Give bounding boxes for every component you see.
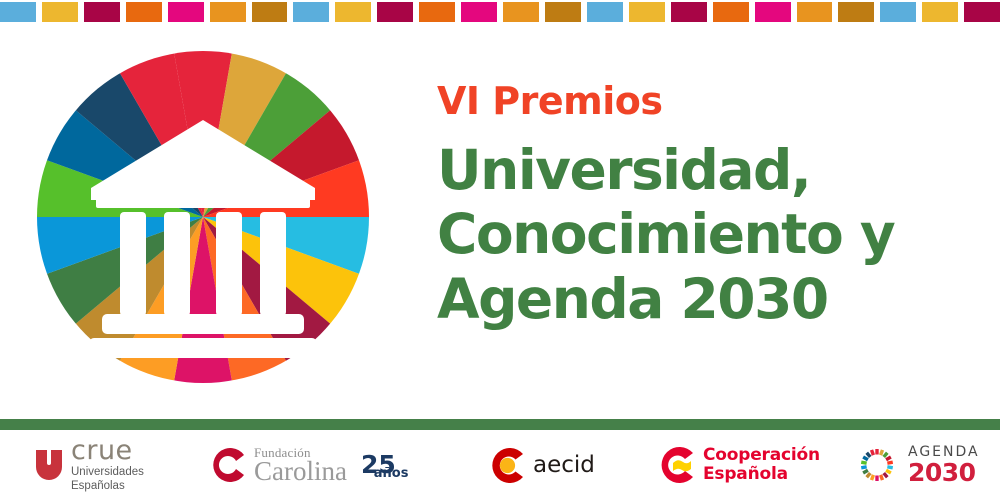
poster-root: VI Premios Universidad, Conocimiento y A… xyxy=(0,0,1000,500)
sdg-ring-segment xyxy=(861,462,866,463)
crue-u-shield-icon xyxy=(36,450,62,480)
color-tile xyxy=(755,2,797,22)
color-tile xyxy=(210,2,252,22)
anniversary-word: años xyxy=(374,466,409,481)
aecid-c-sun-icon xyxy=(490,448,525,483)
crue-subline-2: Españolas xyxy=(71,480,144,494)
hero-section: VI Premios Universidad, Conocimiento y A… xyxy=(0,26,1000,419)
color-tile xyxy=(126,2,168,22)
color-tile xyxy=(335,2,377,22)
agenda-year: 2030 xyxy=(908,460,980,485)
color-tile xyxy=(797,2,839,22)
color-tile xyxy=(545,2,587,22)
sdg-ring-segment xyxy=(872,475,874,480)
sdg-ring-segment xyxy=(863,470,868,473)
logo-cooperacion-espanola[interactable]: Cooperación Española xyxy=(659,430,820,500)
sdg-ring-segment xyxy=(881,450,883,455)
kicker-text: VI Premios xyxy=(437,82,977,120)
green-divider-bar xyxy=(0,419,1000,430)
color-tile xyxy=(168,2,210,22)
coop-line-1: Cooperación xyxy=(703,446,820,465)
title-line-1: Universidad, xyxy=(437,138,977,202)
logo-aecid[interactable]: aecid xyxy=(490,430,595,500)
color-tile xyxy=(84,2,126,22)
color-tile xyxy=(964,2,1000,22)
carolina-c-icon xyxy=(212,448,246,482)
coop-line-2: Española xyxy=(703,465,820,484)
carolina-main-word: Carolina xyxy=(254,458,347,485)
sponsor-logo-band: crue Universidades Españolas Fundación C… xyxy=(0,430,1000,500)
sdg-ring-segment xyxy=(884,453,888,457)
crue-subline-1: Universidades xyxy=(71,466,144,480)
sdg-wheel-university-emblem xyxy=(34,48,372,386)
sdg-ring-segment xyxy=(867,473,871,477)
sdg-ring-segment xyxy=(887,467,892,468)
color-tile xyxy=(419,2,461,22)
aecid-wordmark: aecid xyxy=(533,452,595,478)
color-tile xyxy=(587,2,629,22)
sdg-ring-segment xyxy=(863,457,868,460)
sdg-ring-segment xyxy=(887,462,892,463)
color-tile xyxy=(377,2,419,22)
sdg-ring-segment xyxy=(886,457,891,460)
color-tile xyxy=(461,2,503,22)
logo-fundacion-carolina[interactable]: Fundación Carolina 25 años xyxy=(212,430,408,500)
color-tile xyxy=(252,2,294,22)
color-tile xyxy=(713,2,755,22)
color-tile xyxy=(629,2,671,22)
color-tile xyxy=(42,2,84,22)
agenda-wordmark: AGENDA xyxy=(908,445,980,459)
color-tile xyxy=(880,2,922,22)
decorative-color-tile-strip xyxy=(0,0,1000,26)
color-tile xyxy=(503,2,545,22)
sdg-ring-segment xyxy=(867,453,871,457)
carolina-25-anniversary-mark: 25 años xyxy=(361,449,409,481)
sdg-ring-segment xyxy=(872,450,874,455)
sdg-ring-segment xyxy=(861,467,866,468)
sdg-ring-segment xyxy=(886,470,891,473)
cooperacion-c-wave-icon xyxy=(659,447,695,483)
title-line-2: Conocimiento y xyxy=(437,202,977,266)
sdg-ring-segment xyxy=(881,475,883,480)
sdg-ring-icon xyxy=(855,443,899,487)
color-tile xyxy=(0,2,42,22)
color-tile xyxy=(293,2,335,22)
crue-wordmark: crue xyxy=(71,437,144,464)
color-tile xyxy=(671,2,713,22)
logo-agenda-2030[interactable]: AGENDA 2030 xyxy=(855,430,980,500)
color-tile xyxy=(838,2,880,22)
title-line-3: Agenda 2030 xyxy=(437,267,977,331)
color-tile xyxy=(922,2,964,22)
logo-crue[interactable]: crue Universidades Españolas xyxy=(36,430,144,500)
sdg-wheel-segments xyxy=(34,48,372,386)
sdg-ring-segment xyxy=(884,473,888,477)
title-block: VI Premios Universidad, Conocimiento y A… xyxy=(437,82,977,331)
